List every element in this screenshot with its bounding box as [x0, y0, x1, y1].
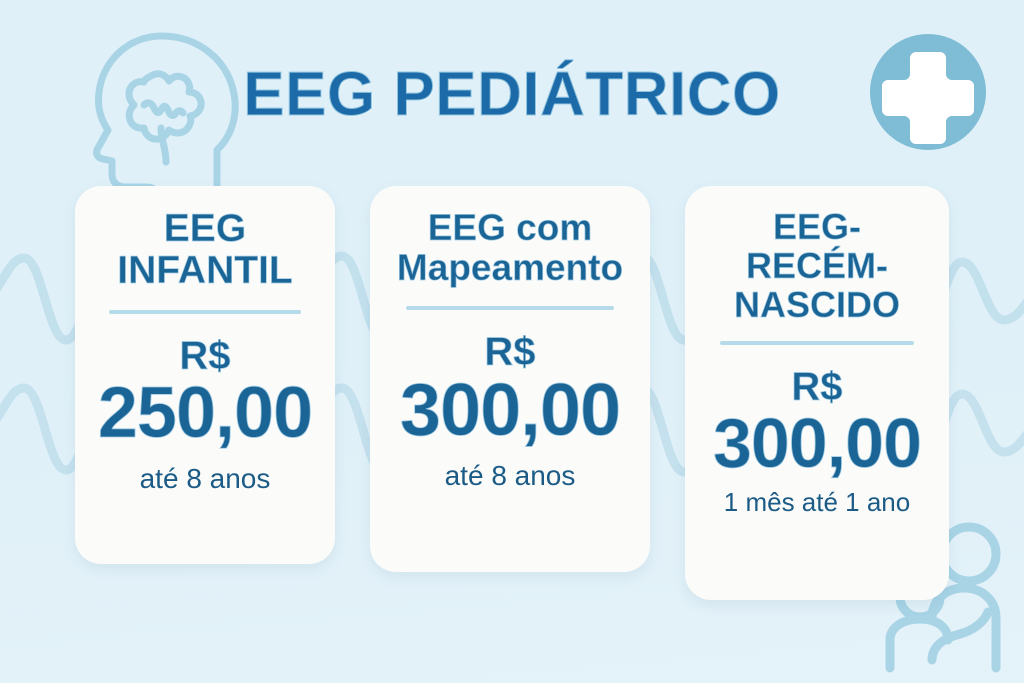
- currency-symbol: R$: [791, 365, 842, 409]
- currency-symbol: R$: [179, 334, 230, 378]
- card-title-line-1: EEG-: [734, 208, 900, 247]
- card-divider: [720, 341, 915, 345]
- card-price: R$ 300,00: [400, 330, 620, 447]
- page-title: EEG PEDIÁTRICO: [0, 60, 1024, 130]
- card-title-line-3: NASCIDO: [734, 286, 900, 325]
- card-price: R$ 250,00: [98, 334, 312, 449]
- price-card-eeg-infantil[interactable]: EEG INFANTIL R$ 250,00 até 8 anos: [75, 186, 335, 564]
- card-title-line-2: RECÉM-: [734, 247, 900, 286]
- card-title-line-1: EEG: [117, 208, 292, 250]
- price-amount: 300,00: [713, 409, 921, 478]
- price-card-eeg-recem-nascido[interactable]: EEG- RECÉM- NASCIDO R$ 300,00 1 mês até …: [685, 186, 949, 600]
- price-card-eeg-mapeamento[interactable]: EEG com Mapeamento R$ 300,00 até 8 anos: [370, 186, 650, 572]
- card-title-line-2: Mapeamento: [397, 248, 623, 288]
- age-note: até 8 anos: [140, 463, 271, 495]
- card-divider: [109, 310, 301, 314]
- age-note: até 8 anos: [445, 460, 576, 492]
- card-title-line-1: EEG com: [397, 208, 623, 248]
- price-amount: 300,00: [400, 374, 620, 447]
- card-title: EEG com Mapeamento: [397, 208, 623, 288]
- card-title: EEG- RECÉM- NASCIDO: [734, 208, 900, 325]
- poster-canvas: EEG PEDIÁTRICO EEG INFANTIL R$ 250,00 at…: [0, 0, 1024, 683]
- card-title-line-2: INFANTIL: [117, 250, 292, 292]
- card-divider: [406, 306, 614, 310]
- card-price: R$ 300,00: [713, 365, 921, 478]
- age-note: 1 mês até 1 ano: [724, 487, 910, 518]
- price-cards-row: EEG INFANTIL R$ 250,00 até 8 anos EEG co…: [75, 186, 949, 600]
- card-title: EEG INFANTIL: [117, 208, 292, 292]
- price-amount: 250,00: [98, 378, 312, 449]
